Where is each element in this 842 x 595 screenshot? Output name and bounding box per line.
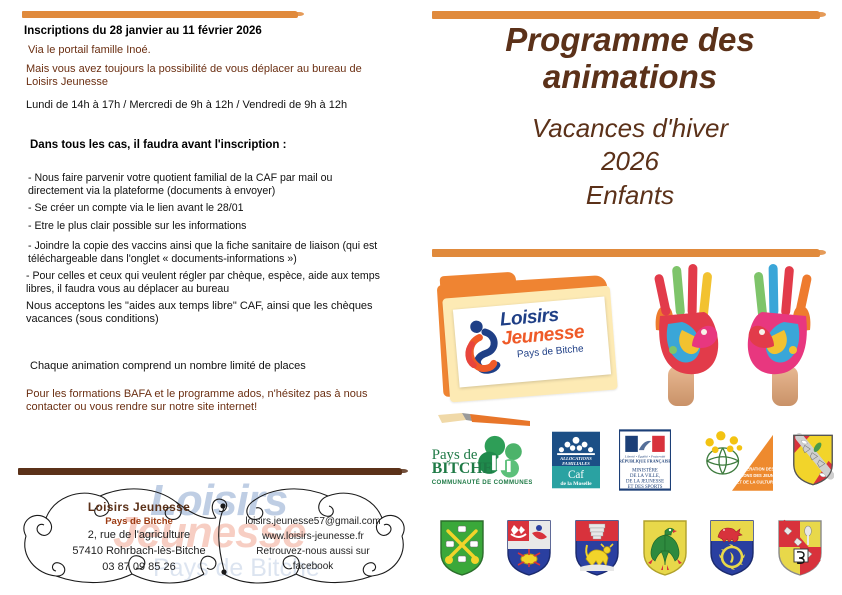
bottom-brown-brush-bar xyxy=(18,468,402,475)
svg-text:FAMILIALES: FAMILIALES xyxy=(562,461,590,466)
svg-text:ET DE LA CULTURE: ET DE LA CULTURE xyxy=(736,479,772,484)
logo-swirl-icon xyxy=(462,316,503,377)
social-line-2[interactable]: facebook xyxy=(218,559,408,574)
bullet-item-1: - Nous faire parvenir votre quotient fam… xyxy=(28,172,380,198)
left-hand xyxy=(654,264,718,406)
svg-text:DE LA VILLE,: DE LA VILLE, xyxy=(630,474,660,479)
painted-hands-photo xyxy=(638,258,828,408)
shield-quartered-red-blue xyxy=(504,519,554,577)
svg-text:ALLOCATIONS: ALLOCATIONS xyxy=(559,456,592,461)
partner-logo-fmjc: FÉDÉRATION DES MAISONS DES JEUNES ET DE … xyxy=(691,426,773,494)
subtitle-line-3: Enfants xyxy=(430,179,830,212)
bullet-item-2: - Se créer un compte via le lien avant l… xyxy=(28,202,380,215)
contact-block: Loisirs Jeunesse Pays de Bitche 2, rue d… xyxy=(0,478,420,595)
right-middle-orange-bar xyxy=(432,249,820,257)
partner-logo-ministere: Liberté • Égalité • Fraternité RÉPUBLIQU… xyxy=(619,426,671,494)
svg-text:MAISONS DES JEUNES: MAISONS DES JEUNES xyxy=(733,473,773,478)
left-panel: Inscriptions du 28 janvier au 11 février… xyxy=(0,0,420,595)
logo-wordmark: Loisirs Jeunesse Pays de Bitche xyxy=(499,303,607,362)
partner-logos-row: Pays de BITCHE COMMUNAUTÉ DE COMMUNES AL… xyxy=(428,424,834,496)
svg-text:Liberté • Égalité • Fraternité: Liberté • Égalité • Fraternité xyxy=(624,453,666,458)
svg-text:ET DES SPORTS: ET DES SPORTS xyxy=(628,485,663,490)
contact-email[interactable]: loisirs.jeunesse57@gmail.com xyxy=(218,514,408,529)
bafa-line: Pour les formations BAFA et le programme… xyxy=(26,388,382,415)
contact-website[interactable]: www.loisirs-jeunesse.fr xyxy=(218,529,408,544)
partner-logo-blason-lorraine xyxy=(792,426,834,494)
shield-green-eagle xyxy=(640,519,690,577)
portal-line: Via le portail famille Inoé. xyxy=(28,44,151,57)
office-line: Mais vous avez toujours la possibilité d… xyxy=(26,63,386,90)
inscriptions-heading: Inscriptions du 28 janvier au 11 février… xyxy=(24,24,262,38)
shield-lion-and-crown xyxy=(707,519,757,577)
svg-text:DE LA JEUNESSE: DE LA JEUNESSE xyxy=(626,479,664,484)
contact-name: Loisirs Jeunesse xyxy=(54,500,224,514)
title-line-1: Programme des xyxy=(430,22,830,59)
subtitle-line-1: Vacances d'hiver xyxy=(430,112,830,145)
partner-logo-caf-moselle: ALLOCATIONS FAMILIALES Caf de la Moselle xyxy=(552,426,600,494)
partner-logo-pays-de-bitche: Pays de BITCHE COMMUNAUTÉ DE COMMUNES xyxy=(428,426,532,494)
contact-subtitle: Pays de Bitche xyxy=(54,516,224,527)
aides-line: Nous acceptons les "aides aux temps libr… xyxy=(26,300,378,327)
svg-text:de la Moselle: de la Moselle xyxy=(560,481,592,487)
svg-text:MINISTÈRE: MINISTÈRE xyxy=(632,468,658,474)
before-registration-heading: Dans tous les cas, il faudra avant l'ins… xyxy=(30,138,286,152)
opening-hours: Lundi de 14h à 17h / Mercredi de 9h à 12… xyxy=(26,99,347,112)
svg-text:FÉDÉRATION DES: FÉDÉRATION DES xyxy=(738,466,773,471)
right-hand xyxy=(748,264,812,406)
limited-places-line: Chaque animation comprend un nombre limi… xyxy=(30,360,306,373)
contact-online: loisirs.jeunesse57@gmail.com www.loisirs… xyxy=(218,514,408,574)
page-title: Programme des animations xyxy=(430,22,830,96)
svg-text:COMMUNAUTÉ DE COMMUNES: COMMUNAUTÉ DE COMMUNES xyxy=(432,478,532,486)
top-orange-brush-bar xyxy=(22,11,298,18)
brochure-page: Inscriptions du 28 janvier au 11 février… xyxy=(0,0,842,595)
bullet-item-5: - Pour celles et ceux qui veulent régler… xyxy=(26,270,384,296)
social-line-1: Retrouvez-nous aussi sur xyxy=(218,544,408,559)
page-subtitle: Vacances d'hiver 2026 Enfants xyxy=(430,112,830,212)
svg-text:BITCHE: BITCHE xyxy=(432,460,493,477)
shield-red-yellow-bend xyxy=(775,519,825,577)
svg-text:RÉPUBLIQUE FRANÇAISE: RÉPUBLIQUE FRANÇAISE xyxy=(619,459,671,464)
coat-of-arms-row xyxy=(428,512,834,584)
loisirs-jeunesse-logo: Loisirs Jeunesse Pays de Bitche xyxy=(453,297,611,388)
right-panel: Programme des animations Vacances d'hive… xyxy=(420,0,842,595)
shield-golden-ox xyxy=(572,519,622,577)
subtitle-line-2: 2026 xyxy=(430,145,830,178)
right-top-orange-bar xyxy=(432,11,820,19)
title-line-2: animations xyxy=(430,59,830,96)
shield-crossed-keys xyxy=(437,519,487,577)
bullet-item-4: - Joindre la copie des vaccins ainsi que… xyxy=(28,240,386,266)
svg-text:Caf: Caf xyxy=(567,469,583,481)
bullet-item-3: - Etre le plus clair possible sur les in… xyxy=(28,220,380,233)
logo-folder-graphic: Loisirs Jeunesse Pays de Bitche xyxy=(436,272,636,402)
